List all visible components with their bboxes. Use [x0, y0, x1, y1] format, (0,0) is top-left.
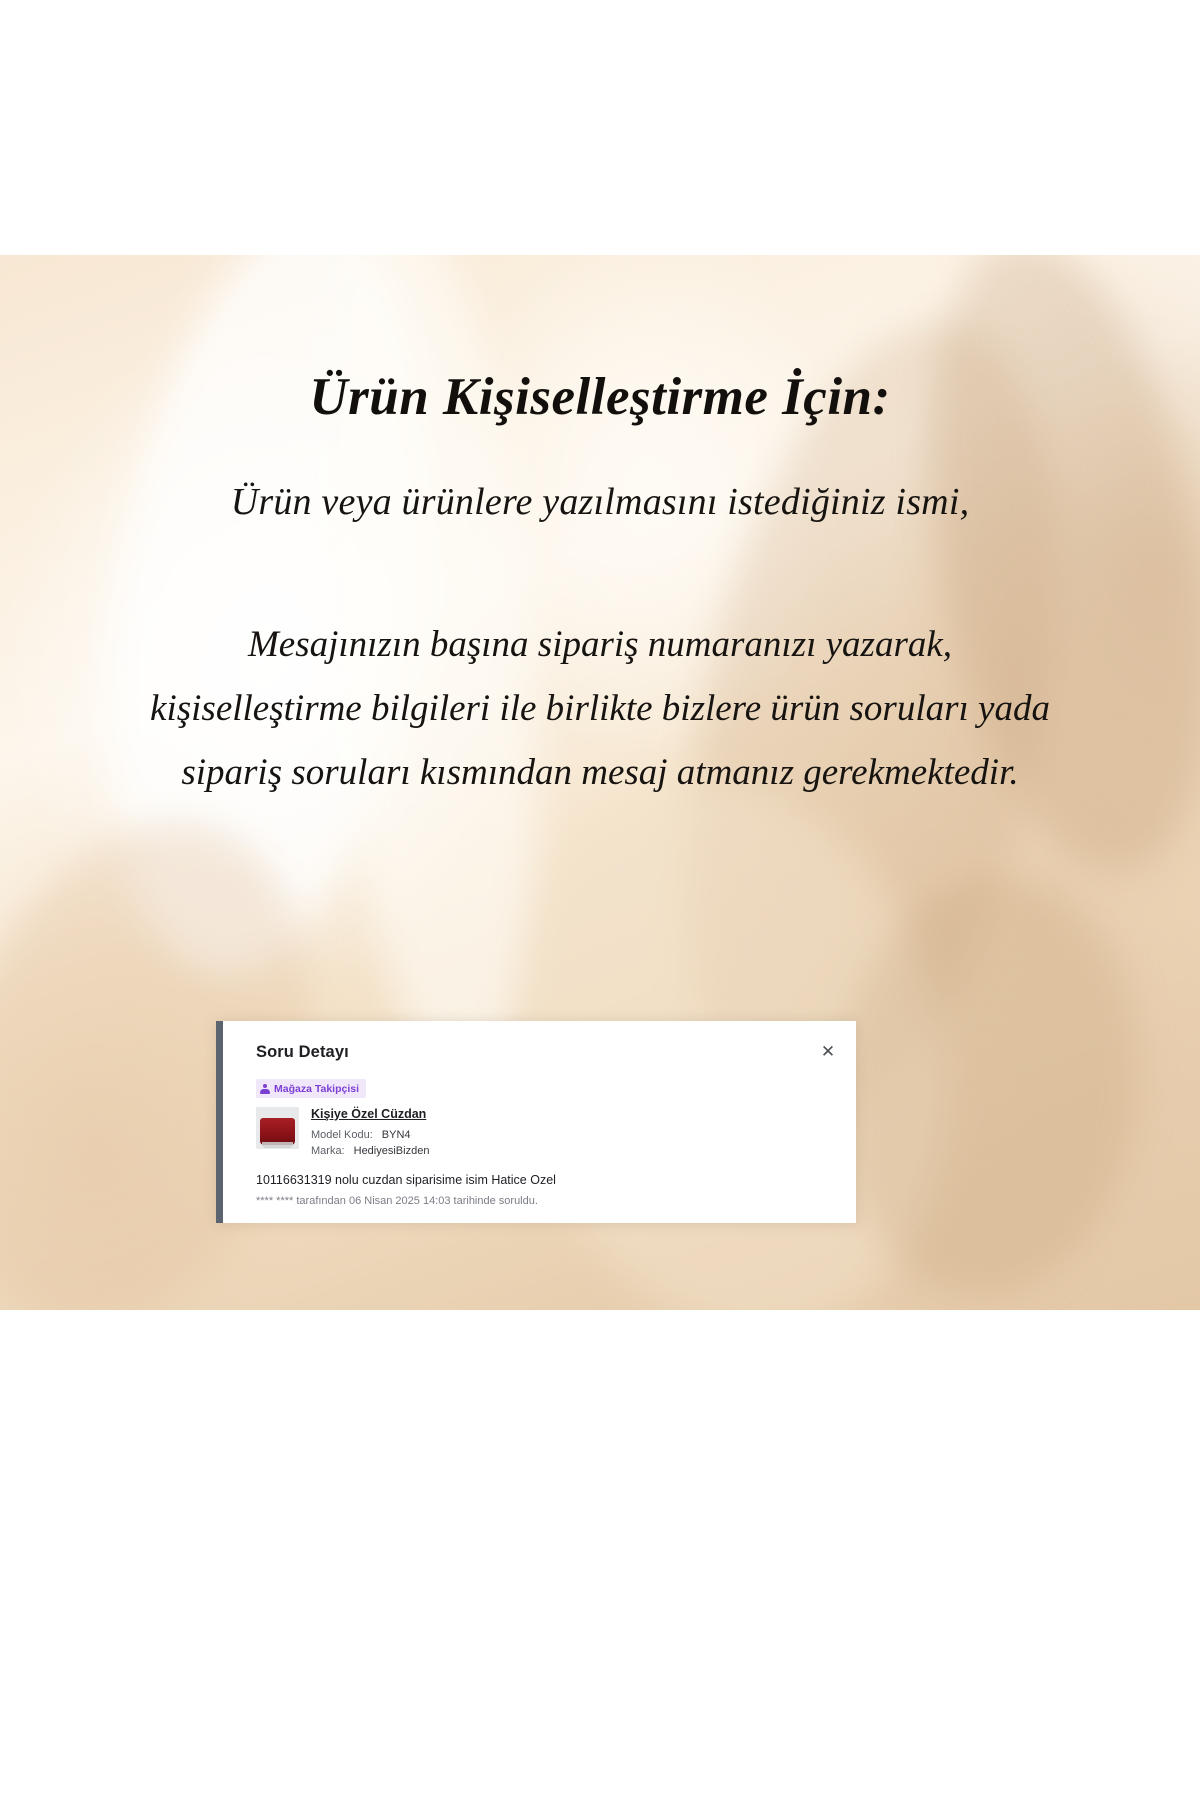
- product-brand-row: Marka: HediyesiBizden: [311, 1143, 429, 1159]
- product-name-link[interactable]: Kişiye Özel Cüzdan: [311, 1107, 429, 1121]
- product-info: Kişiye Özel Cüzdan Model Kodu: BYN4 Mark…: [311, 1107, 429, 1159]
- product-thumbnail: [256, 1107, 299, 1149]
- follower-person-icon: [260, 1084, 270, 1094]
- page-title: Ürün Kişiselleştirme İçin:: [0, 367, 1200, 427]
- model-code-value: BYN4: [382, 1127, 411, 1143]
- page-subtitle: Ürün veya ürünlere yazılmasını istediğin…: [0, 480, 1200, 524]
- brand-label: Marka:: [311, 1143, 345, 1159]
- card-title: Soru Detayı: [256, 1043, 349, 1062]
- status-badge: Mağaza Takipçisi: [256, 1079, 366, 1098]
- close-icon[interactable]: ✕: [818, 1042, 838, 1062]
- brand-value: HediyesiBizden: [354, 1143, 430, 1159]
- instruction-line-1: Mesajınızın başına sipariş numaranızı ya…: [0, 613, 1200, 677]
- product-model-row: Model Kodu: BYN4: [311, 1127, 429, 1143]
- status-badge-label: Mağaza Takipçisi: [274, 1083, 359, 1095]
- instruction-line-2: kişiselleştirme bilgileri ile birlikte b…: [0, 677, 1200, 741]
- model-code-label: Model Kodu:: [311, 1127, 373, 1143]
- instruction-line-3: sipariş soruları kısmından mesaj atmanız…: [0, 741, 1200, 805]
- question-block: 10116631319 nolu cuzdan siparisime isim …: [256, 1171, 834, 1210]
- instructions-paragraph: Mesajınızın başına sipariş numaranızı ya…: [0, 613, 1200, 805]
- card-inner: Soru Detayı ✕ Mağaza Takipçisi Kişiye Öz…: [223, 1021, 856, 1223]
- wallet-image: [260, 1118, 295, 1145]
- headline-copy: Ürün Kişiselleştirme İçin: Ürün veya ürü…: [0, 255, 1200, 1015]
- page-root: Ürün Kişiselleştirme İçin: Ürün veya ürü…: [0, 0, 1200, 1800]
- question-detail-card: Soru Detayı ✕ Mağaza Takipçisi Kişiye Öz…: [216, 1021, 856, 1223]
- product-summary: Kişiye Özel Cüzdan Model Kodu: BYN4 Mark…: [256, 1107, 429, 1159]
- question-text: 10116631319 nolu cuzdan siparisime isim …: [256, 1171, 834, 1189]
- question-meta: **** **** tarafından 06 Nisan 2025 14:03…: [256, 1192, 834, 1210]
